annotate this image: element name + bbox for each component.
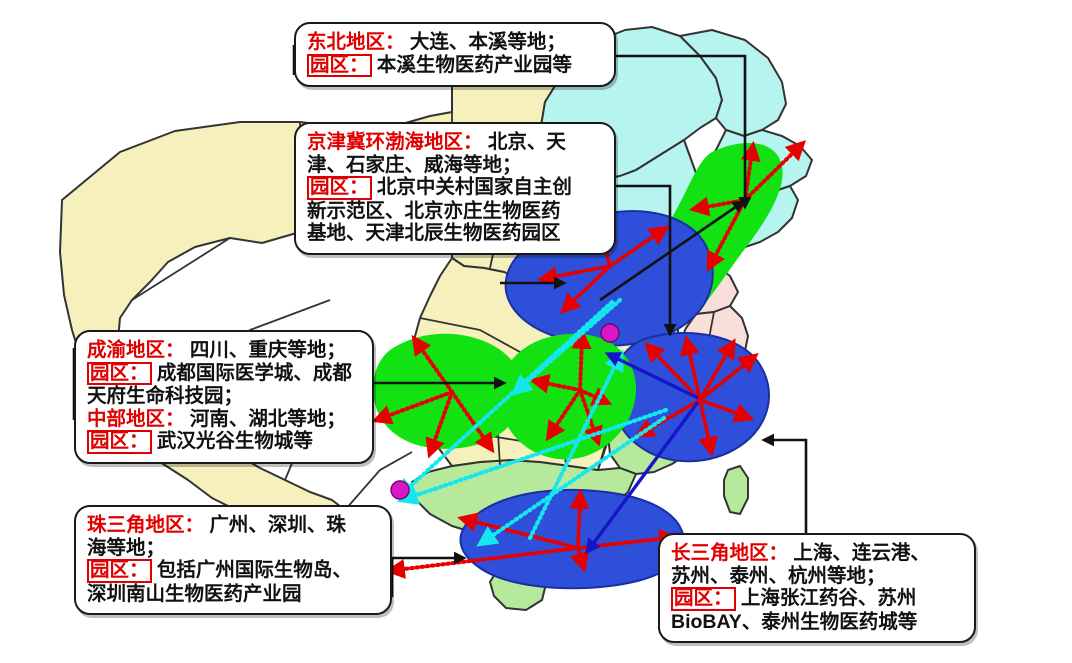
callout-park-text-cont: 新示范区、北京亦庄生物医药 xyxy=(307,200,561,222)
callout-line: 长三角地区： 上海、连云港、 xyxy=(671,542,963,565)
callout-line: 海等地； xyxy=(87,537,379,560)
callout-park-tag: 园区： xyxy=(87,362,152,386)
callout-region-text: 大连、本溪等地； xyxy=(405,31,566,53)
callout-line: 东北地区： 大连、本溪等地； xyxy=(307,31,603,54)
callout-line: 新示范区、北京亦庄生物医药 xyxy=(307,200,603,223)
callout-region-text-cont: 海等地； xyxy=(87,537,165,559)
callout-region-text: 北京、天 xyxy=(483,131,566,153)
callout-park-tag: 园区： xyxy=(671,587,736,611)
callout-line: 园区： 包括广州国际生物岛、 xyxy=(87,559,379,583)
province-taiwan xyxy=(724,466,748,514)
callout-line: BioBAY、泰州生物医药城等 xyxy=(671,611,963,634)
callout-park-text-cont: 天府生命科技园； xyxy=(87,385,243,407)
callout-line: 中部地区： 河南、湖北等地； xyxy=(87,408,361,431)
callout-line: 园区： 上海张江药谷、苏州 xyxy=(671,587,963,611)
callout-park-text-cont: BioBAY、泰州生物医药城等 xyxy=(671,611,917,633)
callout-region-text: 四川、重庆等地； xyxy=(185,339,346,361)
callout-region2-tag: 中部地区： xyxy=(87,408,185,430)
callout-park-tag: 园区： xyxy=(307,54,372,78)
callout-park-text: 成都国际医学城、成都 xyxy=(152,362,352,384)
callout-region-tag: 京津冀环渤海地区： xyxy=(307,131,483,153)
callout-region2-text: 河南、湖北等地； xyxy=(185,408,346,430)
callout-line: 基地、天津北辰生物医药园区 xyxy=(307,222,603,245)
callout-region-tag: 长三角地区： xyxy=(671,542,788,564)
callout-region-tag: 珠三角地区： xyxy=(87,514,204,536)
callout-line: 天府生命科技园； xyxy=(87,385,361,408)
marker-chengdu xyxy=(391,481,409,499)
callout-region-text: 上海、连云港、 xyxy=(788,542,930,564)
callout-line: 成渝地区： 四川、重庆等地； xyxy=(87,339,361,362)
callout-line: 园区： 本溪生物医药产业园等 xyxy=(307,54,603,78)
callout-line: 深圳南山生物医药产业园 xyxy=(87,583,379,606)
callout-park-tag: 园区： xyxy=(87,559,152,583)
callout-northeast[interactable]: 东北地区： 大连、本溪等地； 园区： 本溪生物医药产业园等 xyxy=(294,22,616,87)
callout-park-tag: 园区： xyxy=(307,176,372,200)
callout-line: 园区： 成都国际医学城、成都 xyxy=(87,362,361,386)
callout-park-text-cont2: 基地、天津北辰生物医药园区 xyxy=(307,222,561,244)
callout-region-text-cont: 津、石家庄、威海等地； xyxy=(307,154,522,176)
callout-region-text-cont: 苏州、泰州、杭州等地； xyxy=(671,565,886,587)
callout-line: 珠三角地区： 广州、深圳、珠 xyxy=(87,514,379,537)
callout-park-text-cont: 深圳南山生物医药产业园 xyxy=(87,583,302,605)
callout-chengyu-central[interactable]: 成渝地区： 四川、重庆等地； 园区： 成都国际医学城、成都 天府生命科技园； 中… xyxy=(74,330,374,464)
callout-park2-tag: 园区： xyxy=(87,430,152,454)
callout-line: 园区： 北京中关村国家自主创 xyxy=(307,176,603,200)
callout-park-text: 本溪生物医药产业园等 xyxy=(372,54,572,76)
callout-park2-text: 武汉光谷生物城等 xyxy=(152,430,313,452)
figure-canvas: 东北地区： 大连、本溪等地； 园区： 本溪生物医药产业园等 京津冀环渤海地区： … xyxy=(0,0,1072,663)
connector-yangtze xyxy=(768,440,806,548)
callout-region-tag: 东北地区： xyxy=(307,31,405,53)
callout-park-text: 北京中关村国家自主创 xyxy=(372,176,572,198)
callout-jingjinji-bohai[interactable]: 京津冀环渤海地区： 北京、天 津、石家庄、威海等地； 园区： 北京中关村国家自主… xyxy=(294,122,616,255)
red-arrow-prd-1 xyxy=(578,500,580,548)
callout-region-tag: 成渝地区： xyxy=(87,339,185,361)
callout-line: 津、石家庄、威海等地； xyxy=(307,154,603,177)
callout-line: 京津冀环渤海地区： 北京、天 xyxy=(307,131,603,154)
callout-region-text: 广州、深圳、珠 xyxy=(204,514,346,536)
callout-line: 苏州、泰州、杭州等地； xyxy=(671,565,963,588)
callout-yangtze-river-delta[interactable]: 长三角地区： 上海、连云港、 苏州、泰州、杭州等地； 园区： 上海张江药谷、苏州… xyxy=(658,533,976,643)
callout-park-text: 上海张江药谷、苏州 xyxy=(736,587,917,609)
red-arrow-ctr-1 xyxy=(580,340,582,390)
callout-line: 园区： 武汉光谷生物城等 xyxy=(87,430,361,454)
marker-beijing-tianjin xyxy=(601,324,619,342)
callout-park-text: 包括广州国际生物岛、 xyxy=(152,559,352,581)
callout-pearl-river-delta[interactable]: 珠三角地区： 广州、深圳、珠 海等地； 园区： 包括广州国际生物岛、 深圳南山生… xyxy=(74,505,392,615)
